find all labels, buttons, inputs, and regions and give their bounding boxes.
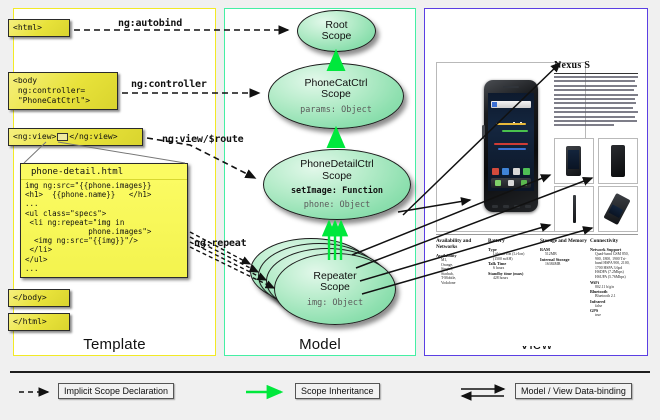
scope-phonedetailctrl-title-2: Scope xyxy=(322,171,352,183)
view-thumbnail-4[interactable] xyxy=(598,186,638,232)
legend-label-implicit-scope-declaration: Implicit Scope Declaration xyxy=(58,383,174,399)
view-thumbnail-2[interactable] xyxy=(598,138,638,184)
diagram-canvas: Template Model View <html> <body ng:cont… xyxy=(0,0,660,420)
spec-value-2-1-0: 16384MB xyxy=(540,262,588,267)
tag-ngview-open: <ng:view> xyxy=(13,132,56,141)
tag-ngview: <ng:view></ng:view> xyxy=(8,128,143,146)
scope-repeater-prop-img: img: Object xyxy=(307,298,363,308)
legend-item-scope-inheritance: Scope Inheritance xyxy=(245,383,291,401)
view-thumbnail-1[interactable] xyxy=(554,138,594,184)
spec-value-3-4-0: true xyxy=(590,313,638,318)
view-heading-nexus-s: Nexus S xyxy=(554,60,638,71)
tag-html-open: <html> xyxy=(8,19,70,37)
scope-root: Root Scope xyxy=(297,10,376,52)
nexus-s-phone-image xyxy=(484,80,538,212)
view-thumbnail-3[interactable] xyxy=(554,186,594,232)
scope-phonedetailctrl-title-1: PhoneDetailCtrl xyxy=(300,159,374,171)
view-rendered-page: Nexus S Availability xyxy=(432,16,640,346)
spec-header-3: Connectivity xyxy=(590,238,638,244)
legend-item-implicit-scope-declaration: Implicit Scope Declaration xyxy=(18,383,56,401)
spec-header-2: Storage and Memory xyxy=(540,238,588,244)
scope-repeater: Repeater Scope img: Object xyxy=(274,253,396,325)
legend-green-arrow-icon xyxy=(245,383,291,401)
legend-label-model-view-data-binding: Model / View Data-binding xyxy=(515,383,632,399)
scope-phonedetailctrl-prop-phone: phone: Object xyxy=(304,200,371,210)
label-ng-view-route: ng:view/$route xyxy=(162,134,244,145)
tag-ngview-close: </ng:view> xyxy=(69,132,117,141)
scope-phonedetailctrl: PhoneDetailCtrl Scope setImage: Function… xyxy=(263,149,411,220)
view-description-paragraph xyxy=(554,76,638,134)
label-ng-controller: ng:controller xyxy=(131,79,207,90)
column-label-model: Model xyxy=(225,336,415,353)
tag-body-open: <body ng:controller= "PhoneCatCtrl"> xyxy=(8,72,118,110)
note-title: phone-detail.html xyxy=(21,164,187,179)
note-code: img ng:src="{{phone.images}} <h1> {{phon… xyxy=(21,179,187,277)
scope-root-title-2: Scope xyxy=(322,31,352,43)
view-specs-table: Availability and Networks Availability M… xyxy=(436,238,638,342)
scope-phonedetailctrl-prop-setimage: setImage: Function xyxy=(291,186,383,196)
scope-phonecatctrl: PhoneCatCtrl Scope params: Object xyxy=(268,63,404,129)
label-ng-repeat: ng:repeat xyxy=(194,238,246,249)
view-heading-rule xyxy=(554,73,638,74)
tag-body-close: </body> xyxy=(8,289,70,307)
legend-dashed-arrow-icon xyxy=(18,383,56,401)
column-label-template: Template xyxy=(14,336,215,353)
spec-column-storage: Storage and Memory RAM 512MB Internal St… xyxy=(540,238,588,266)
spec-column-connectivity: Connectivity Network Support Quad-band G… xyxy=(590,238,638,318)
specs-top-rule xyxy=(436,234,638,235)
legend-double-arrow-icon xyxy=(460,383,512,401)
tag-html-close: </html> xyxy=(8,313,70,331)
spec-header-0: Availability and Networks xyxy=(436,238,484,250)
spec-column-availability: Availability and Networks Availability M… xyxy=(436,238,484,286)
scope-repeater-title-2: Scope xyxy=(320,282,350,294)
legend-divider xyxy=(10,371,650,373)
scope-phonecatctrl-title-2: Scope xyxy=(321,89,351,101)
label-ng-autobind: ng:autobind xyxy=(118,18,182,29)
spec-value-1-2-0: 428 hours xyxy=(488,276,536,281)
spec-column-battery: Battery Type Lithium Ion (Li-Ion) (1500 … xyxy=(488,238,536,280)
ngview-placeholder-rect xyxy=(57,133,68,141)
phone-detail-note: phone-detail.html img ng:src="{{phone.im… xyxy=(20,163,188,278)
legend-item-model-view-data-binding: Model / View Data-binding xyxy=(460,383,512,401)
spec-header-1: Battery xyxy=(488,238,536,244)
scope-phonecatctrl-prop-params: params: Object xyxy=(300,105,372,115)
legend-label-scope-inheritance: Scope Inheritance xyxy=(295,383,380,399)
spec-value-0-0-5: Vodafone xyxy=(436,281,484,286)
